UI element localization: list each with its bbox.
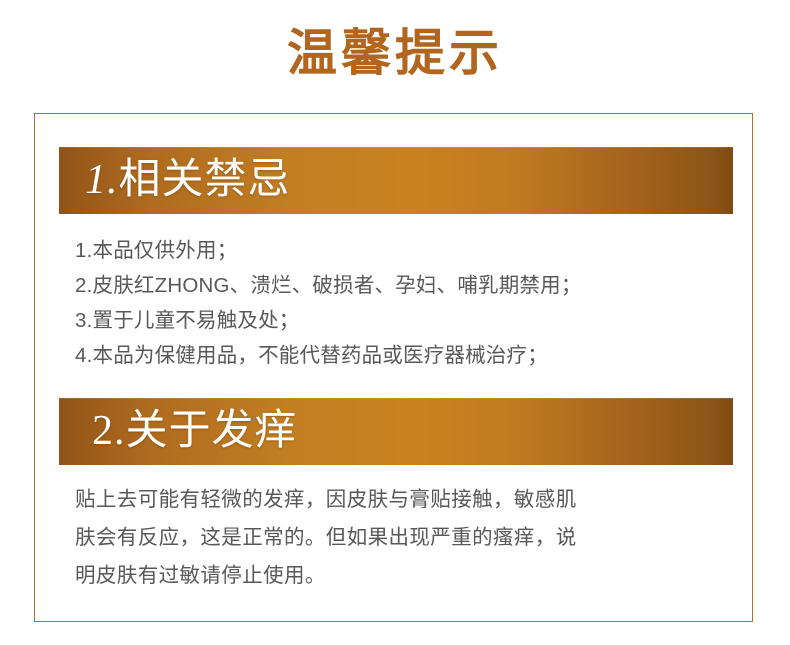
section-1-heading-text: 相关禁忌 xyxy=(119,157,291,203)
list-item: 2.皮肤红ZHONG、溃烂、破损者、孕妇、哺乳期禁用； xyxy=(75,268,735,303)
section-2-heading-text: 关于发痒 xyxy=(126,408,298,454)
notice-page: 温馨提示 1.相关禁忌 1.本品仅供外用； 2.皮肤红ZHONG、溃烂、破损者、… xyxy=(0,0,790,645)
section-2-number: 2. xyxy=(92,408,126,454)
section-2-paragraph: 贴上去可能有轻微的发痒，因皮肤与膏贴接触，敏感肌 肤会有反应，这是正常的。但如果… xyxy=(75,481,720,595)
section-header-bar-2: 2.关于发痒 xyxy=(59,398,733,465)
section-header-bar-1: 1.相关禁忌 xyxy=(59,147,733,214)
content-frame: 1.相关禁忌 1.本品仅供外用； 2.皮肤红ZHONG、溃烂、破损者、孕妇、哺乳… xyxy=(34,113,753,622)
list-item: 3.置于儿童不易触及处； xyxy=(75,303,735,338)
list-item: 4.本品为保健用品，不能代替药品或医疗器械治疗； xyxy=(75,338,735,373)
page-title: 温馨提示 xyxy=(0,24,790,82)
list-item: 1.本品仅供外用； xyxy=(75,233,735,268)
section-1-heading: 1.相关禁忌 xyxy=(85,152,291,208)
section-1-number: 1. xyxy=(85,157,119,203)
section-1-list: 1.本品仅供外用； 2.皮肤红ZHONG、溃烂、破损者、孕妇、哺乳期禁用； 3.… xyxy=(75,233,735,373)
paragraph-line: 明皮肤有过敏请停止使用。 xyxy=(75,557,720,595)
paragraph-line: 贴上去可能有轻微的发痒，因皮肤与膏贴接触，敏感肌 xyxy=(75,481,720,519)
paragraph-line: 肤会有反应，这是正常的。但如果出现严重的瘙痒，说 xyxy=(75,519,720,557)
section-2-heading: 2.关于发痒 xyxy=(92,403,298,459)
